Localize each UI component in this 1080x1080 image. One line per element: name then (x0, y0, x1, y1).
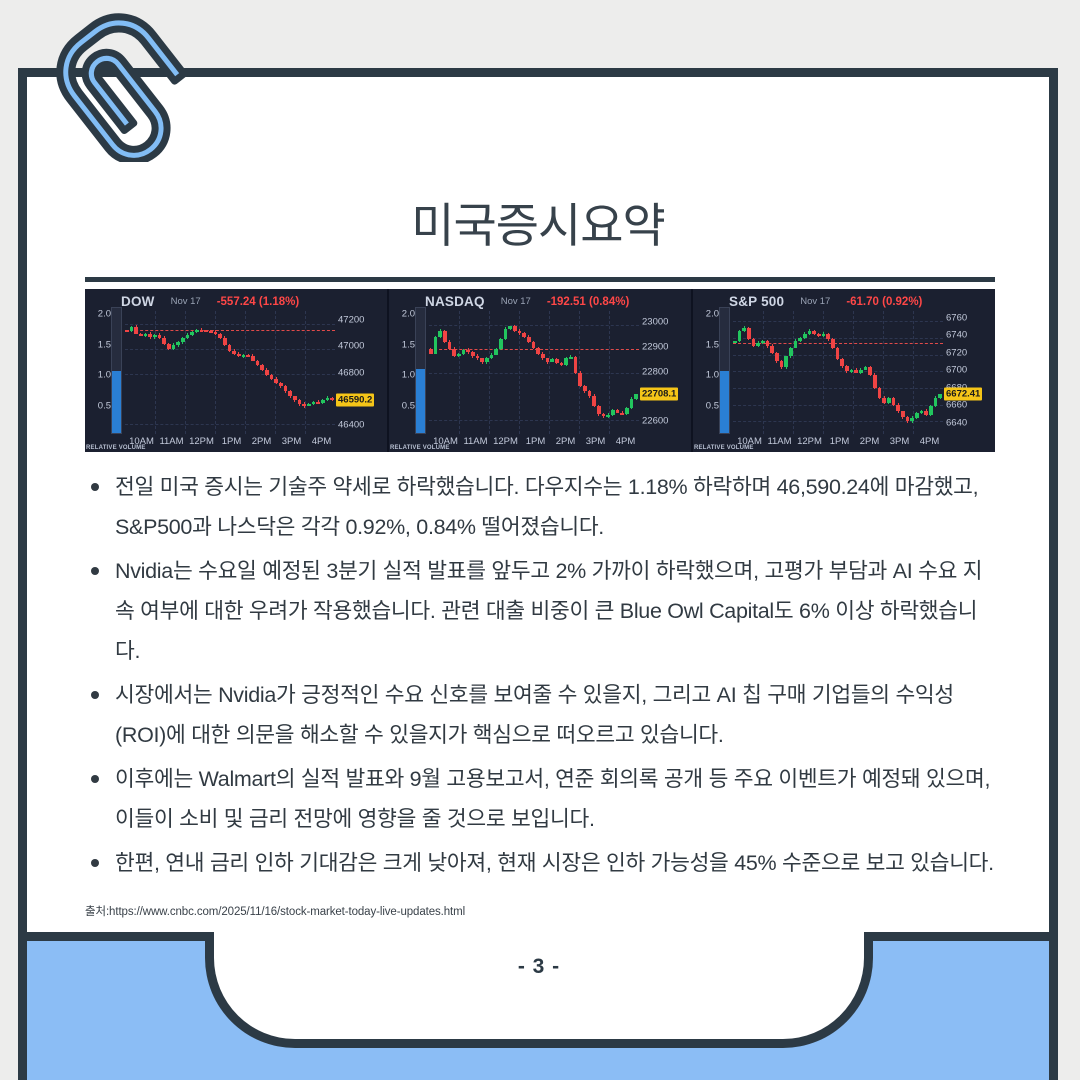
candle-body (938, 394, 942, 398)
candlestick (840, 311, 844, 434)
candlestick (480, 311, 484, 434)
candlestick (293, 311, 297, 434)
candle-body (265, 370, 269, 375)
candle-body (246, 355, 250, 357)
paperclip-icon (56, 2, 226, 162)
candlestick (906, 311, 910, 434)
time-tick: 2PM (556, 436, 576, 447)
chart-change: -61.70 (0.92%) (846, 296, 922, 308)
candlestick (822, 311, 826, 434)
candle-body (630, 399, 634, 408)
candle-body (920, 411, 924, 413)
relvol-tick: 1.5 (402, 339, 415, 350)
candle-body (490, 355, 494, 359)
candlestick (172, 311, 176, 434)
candle-body (831, 339, 835, 347)
candlestick (578, 311, 582, 434)
last-price-badge: 22708.1 (640, 388, 678, 401)
price-tick: 22800 (642, 366, 668, 377)
candle-body (620, 413, 624, 415)
candlestick (887, 311, 891, 434)
time-tick: 11AM (463, 436, 487, 447)
candlestick (803, 311, 807, 434)
candle-body (761, 341, 765, 343)
last-price-badge: 46590.2 (336, 394, 374, 407)
bullet-item: Nvidia는 수요일 예정된 3분기 실적 발표를 앞두고 2% 가까이 하락… (85, 551, 1001, 671)
candlestick (237, 311, 241, 434)
candlestick (583, 311, 587, 434)
chart-index-name: DOW (121, 294, 155, 309)
candle-body (840, 359, 844, 367)
candle-body (522, 333, 526, 337)
candlestick (798, 311, 802, 434)
time-tick: 1PM (222, 436, 242, 447)
candle-body (228, 345, 232, 351)
candle-body (316, 402, 320, 404)
candlestick (770, 311, 774, 434)
candlestick (256, 311, 260, 434)
candlestick (733, 311, 737, 434)
candle-body (284, 386, 288, 391)
relvol-tick: 1.5 (706, 339, 719, 350)
candlestick (518, 311, 522, 434)
chart-index-name: NASDAQ (425, 294, 485, 309)
candle-body (770, 346, 774, 353)
time-tick: 2PM (252, 436, 272, 447)
candle-body (256, 361, 260, 365)
candlestick (279, 311, 283, 434)
candle-body (756, 343, 760, 346)
source-caption: 출처:https://www.cnbc.com/2025/11/16/stock… (85, 903, 465, 919)
candle-body (924, 411, 928, 414)
time-tick: 10AM (737, 436, 762, 447)
candlestick (504, 311, 508, 434)
relative-volume-fill (112, 371, 121, 433)
candle-body (864, 367, 868, 370)
candlestick (148, 311, 152, 434)
candlestick (630, 311, 634, 434)
candle-body (892, 398, 896, 405)
candle-body (854, 370, 858, 373)
candlestick (513, 311, 517, 434)
chart-change: -192.51 (0.84%) (547, 296, 629, 308)
price-tick: 6640 (946, 417, 967, 428)
candlestick (204, 311, 208, 434)
candle-body (162, 338, 166, 344)
candlestick (616, 311, 620, 434)
candle-body (882, 398, 886, 403)
price-tick: 47000 (338, 341, 364, 352)
candlestick (153, 311, 157, 434)
candle-body (906, 417, 910, 421)
price-tick: 47200 (338, 315, 364, 326)
candle-body (434, 337, 438, 354)
candlestick (564, 311, 568, 434)
candlestick (625, 311, 629, 434)
candlestick (756, 311, 760, 434)
candlestick (606, 311, 610, 434)
candlestick (845, 311, 849, 434)
candlestick (499, 311, 503, 434)
candlestick (742, 311, 746, 434)
time-tick: 4PM (312, 436, 332, 447)
candle-body (457, 354, 461, 356)
candle-body (134, 327, 138, 334)
price-tick: 6700 (946, 365, 967, 376)
candle-body (471, 352, 475, 356)
time-tick: 1PM (526, 436, 546, 447)
time-tick: 4PM (616, 436, 636, 447)
candlestick (144, 311, 148, 434)
price-tick: 6660 (946, 400, 967, 411)
candle-body (850, 370, 854, 372)
price-tick: 46800 (338, 367, 364, 378)
relvol-tick: 2.0 (402, 309, 415, 320)
candle-body (452, 349, 456, 356)
candlestick (471, 311, 475, 434)
candle-body (901, 411, 905, 417)
candle-body (237, 354, 241, 356)
chart-index-name: S&P 500 (729, 294, 784, 309)
bullet-dot-icon (91, 775, 99, 783)
candle-body (747, 328, 751, 340)
candlestick (892, 311, 896, 434)
candle-body (429, 349, 433, 354)
candle-body (878, 388, 882, 398)
candlestick (532, 311, 536, 434)
candlestick (747, 311, 751, 434)
candle-body (144, 334, 148, 336)
candlestick (242, 311, 246, 434)
candle-body (868, 367, 872, 375)
chart-panel-dow: DOWNov 17-557.24 (1.18%)2.01.51.00.5RELA… (85, 289, 389, 452)
candlestick (766, 311, 770, 434)
candle-body (321, 400, 325, 403)
candlestick (274, 311, 278, 434)
price-axis: 4720047000468004640046590.2 (335, 307, 387, 436)
candle-body (569, 357, 573, 359)
relative-volume-bar (415, 307, 426, 434)
candle-body (752, 339, 756, 346)
last-price-badge: 6672.41 (944, 388, 982, 401)
candle-body (536, 348, 540, 354)
candlestick (901, 311, 905, 434)
candle-body (148, 334, 152, 337)
bullet-dot-icon (91, 567, 99, 575)
candlestick (218, 311, 222, 434)
relvol-tick: 0.5 (98, 400, 111, 411)
candlestick (312, 311, 316, 434)
candle-body (232, 351, 236, 354)
price-tick: 6740 (946, 330, 967, 341)
candlestick (634, 311, 638, 434)
market-charts-strip: DOWNov 17-557.24 (1.18%)2.01.51.00.5RELA… (85, 289, 995, 452)
bullet-text: 전일 미국 증시는 기술주 약세로 하락했습니다. 다우지수는 1.18% 하락… (115, 475, 978, 539)
candlestick (817, 311, 821, 434)
time-tick: 2PM (860, 436, 880, 447)
candlestick (924, 311, 928, 434)
bullet-text: 시장에서는 Nvidia가 긍정적인 수요 신호를 보여줄 수 있을지, 그리고… (115, 683, 954, 747)
candlestick (476, 311, 480, 434)
candlestick (859, 311, 863, 434)
candlestick (130, 311, 134, 434)
candle-body (186, 335, 190, 338)
candle-body (172, 345, 176, 349)
candlestick (251, 311, 255, 434)
candlestick (929, 311, 933, 434)
candle-body (574, 357, 578, 372)
candlestick (850, 311, 854, 434)
candle-body (518, 331, 522, 333)
candlestick (260, 311, 264, 434)
time-tick: 10AM (129, 436, 154, 447)
candle-body (499, 339, 503, 348)
candle-body (480, 358, 484, 362)
candlestick (546, 311, 550, 434)
slide-page: 미국증시요약 DOWNov 17-557.24 (1.18%)2.01.51.0… (18, 68, 1058, 1064)
candle-body (204, 330, 208, 332)
candle-body (494, 349, 498, 355)
candle-body (139, 334, 143, 336)
candlestick (457, 311, 461, 434)
candle-body (597, 406, 601, 414)
relvol-tick: 1.0 (402, 370, 415, 381)
candlestick (429, 311, 433, 434)
chart-panel-nasdaq: NASDAQNov 17-192.51 (0.84%)2.01.51.00.5R… (389, 289, 693, 452)
candlestick (826, 311, 830, 434)
candle-body (550, 359, 554, 361)
candlestick (288, 311, 292, 434)
candle-body (733, 341, 737, 343)
candle-body (466, 350, 470, 352)
candle-body (298, 400, 302, 404)
candlestick (438, 311, 442, 434)
candle-body (181, 338, 185, 342)
candle-body (279, 383, 283, 387)
candle-body (588, 391, 592, 396)
candlestick (158, 311, 162, 434)
candlestick (808, 311, 812, 434)
candlestick (167, 311, 171, 434)
price-axis: 2300022900228002260022708.1 (639, 307, 691, 436)
candlestick (555, 311, 559, 434)
candle-body (293, 396, 297, 400)
relvol-tick: 2.0 (706, 309, 719, 320)
price-tick: 46400 (338, 420, 364, 431)
candlestick (485, 311, 489, 434)
candle-body (167, 344, 171, 349)
candle-body (223, 338, 227, 345)
candlestick (910, 311, 914, 434)
time-tick: 4PM (920, 436, 940, 447)
candle-body (288, 391, 292, 396)
candlestick (228, 311, 232, 434)
candlestick (780, 311, 784, 434)
candle-body (934, 398, 938, 406)
candlestick (134, 311, 138, 434)
candlestick (938, 311, 942, 434)
candle-body (485, 358, 489, 362)
candle-body (504, 329, 508, 340)
candlestick (541, 311, 545, 434)
candle-body (929, 406, 933, 414)
candlestick (836, 311, 840, 434)
candle-body (784, 356, 788, 367)
bullet-item: 전일 미국 증시는 기술주 약세로 하락했습니다. 다우지수는 1.18% 하락… (85, 467, 1001, 547)
candlestick (284, 311, 288, 434)
chart-panel-s-p-500: S&P 500Nov 17-61.70 (0.92%)2.01.51.00.5R… (693, 289, 995, 452)
candle-body (625, 408, 629, 414)
relative-volume-bar (719, 307, 730, 434)
relvol-tick: 2.0 (98, 309, 111, 320)
time-tick: 12PM (189, 436, 214, 447)
candle-body (270, 375, 274, 379)
chart-plot-area (733, 311, 943, 434)
slide-content: 미국증시요약 DOWNov 17-557.24 (1.18%)2.01.51.0… (27, 77, 1049, 1064)
candle-body (602, 414, 606, 416)
candle-body (606, 415, 610, 417)
candlestick (434, 311, 438, 434)
candlestick (139, 311, 143, 434)
candle-body (513, 326, 517, 331)
candlestick (448, 311, 452, 434)
candle-body (195, 330, 199, 332)
candlestick (569, 311, 573, 434)
chart-plot-area (125, 311, 335, 434)
candlestick (597, 311, 601, 434)
candle-body (546, 358, 550, 362)
candle-body (476, 356, 480, 358)
candlestick (602, 311, 606, 434)
candle-body (836, 348, 840, 359)
candlestick (246, 311, 250, 434)
candle-body (274, 379, 278, 383)
chart-date: Nov 17 (800, 296, 830, 307)
candle-body (808, 331, 812, 334)
candlestick (934, 311, 938, 434)
candle-body (443, 331, 447, 342)
candlestick (265, 311, 269, 434)
candlestick (896, 311, 900, 434)
candlestick (527, 311, 531, 434)
candle-body (251, 356, 255, 360)
candle-body (527, 337, 531, 342)
candlestick (321, 311, 325, 434)
candle-body (634, 394, 638, 398)
candlestick (330, 311, 334, 434)
bullet-text: 이후에는 Walmart의 실적 발표와 9월 고용보고서, 연준 회의록 공개… (115, 767, 990, 831)
candlestick (620, 311, 624, 434)
candlestick (125, 311, 129, 434)
candle-body (176, 342, 180, 345)
candle-body (242, 355, 246, 357)
candle-body (592, 396, 596, 405)
relative-volume-bar (111, 307, 122, 434)
candlestick (316, 311, 320, 434)
candle-body (214, 332, 218, 334)
price-tick: 6760 (946, 312, 967, 323)
relvol-tick: 1.5 (98, 339, 111, 350)
candlestick (831, 311, 835, 434)
time-axis: 10AM11AM12PM1PM2PM3PM4PM (429, 436, 639, 451)
candlestick (209, 311, 213, 434)
time-tick: 12PM (493, 436, 518, 447)
candle-body (200, 330, 204, 332)
candlestick (232, 311, 236, 434)
candlestick (452, 311, 456, 434)
candlestick (190, 311, 194, 434)
candle-body (218, 334, 222, 338)
chart-date: Nov 17 (501, 296, 531, 307)
candlestick (775, 311, 779, 434)
candlestick (588, 311, 592, 434)
candlestick (920, 311, 924, 434)
time-tick: 3PM (282, 436, 302, 447)
candlestick (784, 311, 788, 434)
candlestick (752, 311, 756, 434)
price-tick: 23000 (642, 316, 668, 327)
candlestick (326, 311, 330, 434)
relative-volume-fill (416, 369, 425, 433)
relvol-tick: 1.0 (706, 370, 719, 381)
candle-body (532, 342, 536, 348)
candle-body (438, 331, 442, 337)
time-tick: 3PM (586, 436, 606, 447)
candlestick (878, 311, 882, 434)
candle-body (794, 341, 798, 348)
bullet-text: 한편, 연내 금리 인하 기대감은 크게 낮아져, 현재 시장은 인하 가능성을… (115, 851, 994, 875)
candle-body (896, 405, 900, 412)
candle-body (190, 332, 194, 335)
candlestick (873, 311, 877, 434)
candlestick (200, 311, 204, 434)
time-tick: 1PM (830, 436, 850, 447)
relative-volume-fill (720, 371, 729, 433)
candle-body (789, 348, 793, 356)
candle-body (508, 326, 512, 328)
candle-body (738, 331, 742, 341)
candlestick (443, 311, 447, 434)
candlestick (466, 311, 470, 434)
candlestick (195, 311, 199, 434)
page-number: - 3 - (205, 955, 873, 979)
candlestick (868, 311, 872, 434)
bullet-item: 시장에서는 Nvidia가 긍정적인 수요 신호를 보여줄 수 있을지, 그리고… (85, 675, 1001, 755)
candlestick (882, 311, 886, 434)
candlestick (298, 311, 302, 434)
candlestick (794, 311, 798, 434)
candlestick (761, 311, 765, 434)
chart-date: Nov 17 (171, 296, 201, 307)
bullet-dot-icon (91, 483, 99, 491)
candle-body (766, 341, 770, 346)
candlestick (462, 311, 466, 434)
bullet-item: 이후에는 Walmart의 실적 발표와 9월 고용보고서, 연준 회의록 공개… (85, 759, 1001, 839)
price-tick: 22900 (642, 341, 668, 352)
candlestick (574, 311, 578, 434)
pocket-cover (214, 925, 864, 939)
bullet-list: 전일 미국 증시는 기술주 약세로 하락했습니다. 다우지수는 1.18% 하락… (85, 467, 1001, 887)
candle-body (312, 402, 316, 404)
candlestick (176, 311, 180, 434)
title-divider (85, 277, 995, 282)
candle-body (260, 365, 264, 370)
candle-body (209, 331, 213, 333)
candlestick (789, 311, 793, 434)
chart-plot-area (429, 311, 639, 434)
candle-body (845, 366, 849, 371)
candle-body (448, 342, 452, 349)
